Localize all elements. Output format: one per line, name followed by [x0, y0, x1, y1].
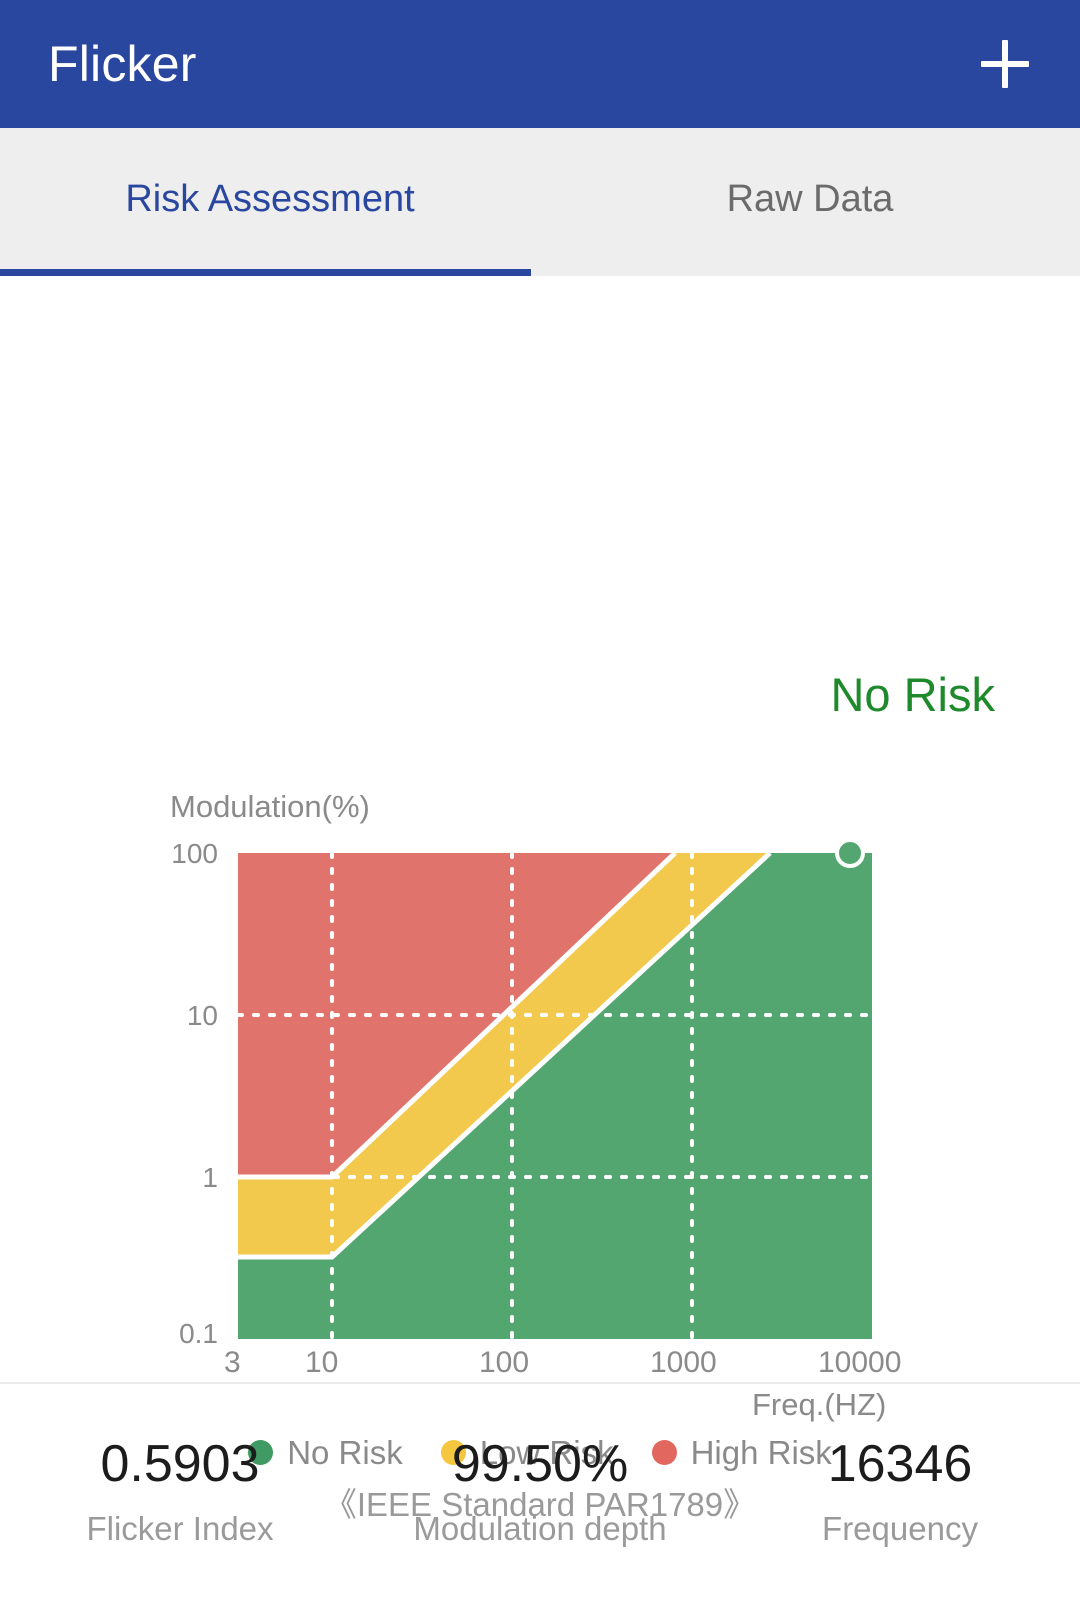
- stat-frequency: 16346 Frequency: [720, 1435, 1080, 1548]
- x-tick-10000: 10000: [818, 1348, 901, 1378]
- risk-assessment-card: No Risk Modulation(%) Freq.(HZ) 100 10 1…: [0, 276, 1080, 1349]
- x-tick-10: 10: [305, 1348, 338, 1378]
- x-tick-1000: 1000: [650, 1348, 717, 1378]
- y-tick-0.1: 0.1: [88, 1320, 218, 1348]
- tab-active-indicator: [0, 269, 531, 276]
- tab-risk-assessment[interactable]: Risk Assessment: [0, 128, 540, 276]
- y-tick-1: 1: [88, 1164, 218, 1192]
- app-title: Flicker: [48, 39, 197, 89]
- stat-frequency-value: 16346: [720, 1435, 1080, 1493]
- stat-modulation-depth-label: Modulation depth: [360, 1511, 720, 1547]
- tab-raw-data[interactable]: Raw Data: [540, 128, 1080, 276]
- measurement-point-marker: [835, 838, 865, 868]
- stat-modulation-depth: 99.50% Modulation depth: [360, 1435, 720, 1548]
- tab-risk-assessment-label: Risk Assessment: [125, 178, 414, 221]
- stat-flicker-index-value: 0.5903: [0, 1435, 360, 1493]
- chart-plot-area: [238, 853, 872, 1339]
- chart-y-axis-title: Modulation(%): [170, 791, 370, 822]
- ieee1789-chart: Modulation(%) Freq.(HZ) 100 10 1 0.1: [0, 276, 1080, 1349]
- stat-flicker-index-label: Flicker Index: [0, 1511, 360, 1547]
- tab-raw-data-label: Raw Data: [727, 178, 894, 221]
- y-tick-100: 100: [88, 840, 218, 868]
- add-icon[interactable]: [968, 27, 1042, 101]
- x-tick-100: 100: [479, 1348, 529, 1378]
- chart-regions-svg: [238, 853, 872, 1339]
- y-tick-10: 10: [88, 1002, 218, 1030]
- tab-bar: Risk Assessment Raw Data: [0, 128, 1080, 276]
- stat-flicker-index: 0.5903 Flicker Index: [0, 1435, 360, 1548]
- stats-row: 0.5903 Flicker Index 99.50% Modulation d…: [0, 1382, 1080, 1600]
- app-bar: Flicker: [0, 0, 1080, 128]
- stat-modulation-depth-value: 99.50%: [360, 1435, 720, 1493]
- x-tick-3: 3: [224, 1348, 241, 1378]
- stat-frequency-label: Frequency: [720, 1511, 1080, 1547]
